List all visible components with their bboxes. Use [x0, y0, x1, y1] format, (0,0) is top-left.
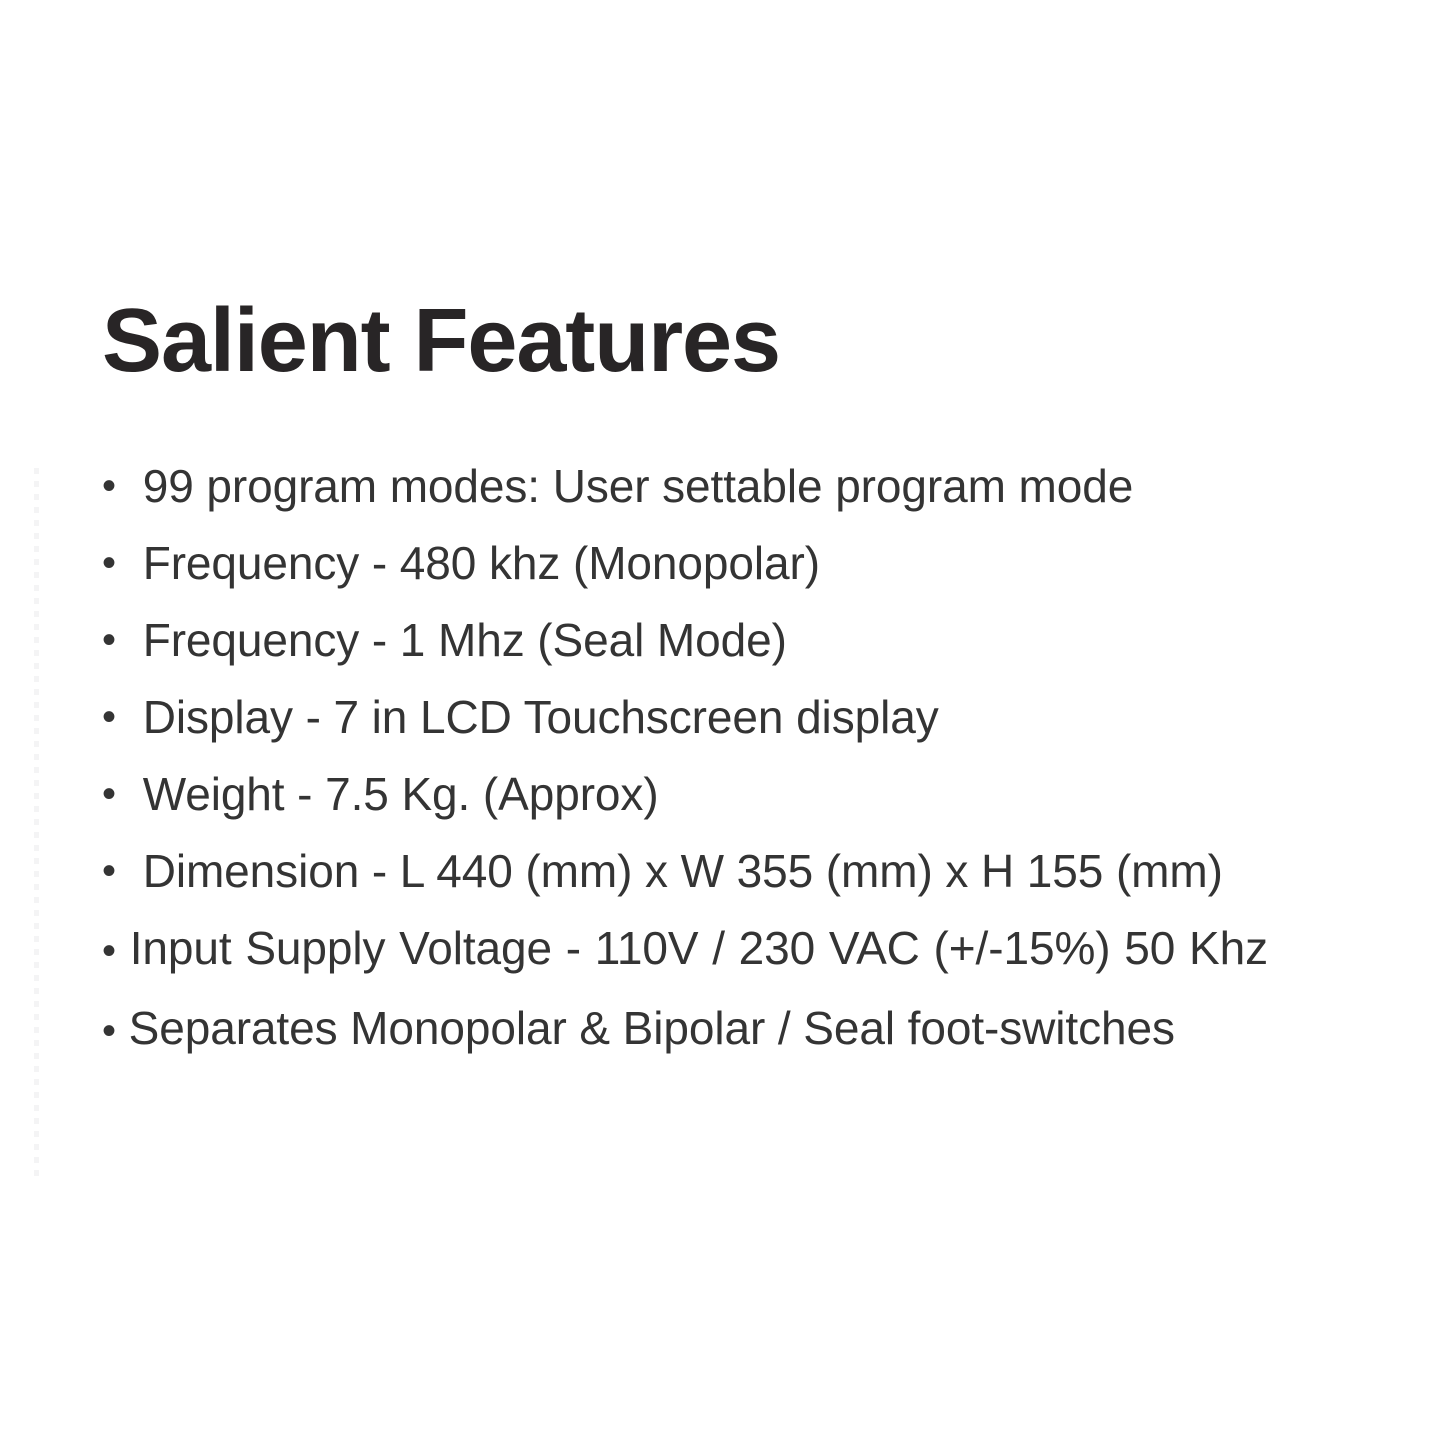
bullet-dot-icon: •: [102, 602, 130, 679]
left-edge-dotted-rule: [34, 468, 39, 1182]
list-item-label: Weight - 7.5 Kg. (Approx): [143, 768, 659, 820]
list-item-label: Display - 7 in LCD Touchscreen display: [143, 691, 939, 743]
list-item-wrapped: • Input Supply Voltage - 110V / 230 VAC …: [102, 910, 1268, 1070]
list-item-label-input-supply-voltage: Input Supply Voltage - 110V / 230 VAC (+…: [130, 922, 1268, 974]
list-item-label: 99 program modes: User settable program …: [143, 460, 1134, 512]
bullet-dot-icon: •: [102, 929, 116, 973]
bullet-dot-icon: •: [102, 448, 130, 525]
list-item: • Dimension - L 440 (mm) x W 355 (mm) x …: [102, 833, 1268, 910]
list-item: • 99 program modes: User settable progra…: [102, 448, 1268, 525]
bullet-dot-icon: •: [102, 679, 130, 756]
salient-features-page: Salient Features • 99 program modes: Use…: [0, 0, 1445, 1445]
page-title: Salient Features: [102, 296, 1268, 386]
feature-list: • 99 program modes: User settable progra…: [102, 448, 1268, 1070]
list-item: • Frequency - 1 Mhz (Seal Mode): [102, 602, 1268, 679]
bullet-dot-icon: •: [102, 756, 130, 833]
list-item: • Frequency - 480 khz (Monopolar): [102, 525, 1268, 602]
list-item-label: Frequency - 480 khz (Monopolar): [143, 537, 820, 589]
bullet-dot-icon: •: [102, 1009, 116, 1053]
content-block: Salient Features • 99 program modes: Use…: [102, 296, 1268, 1070]
bullet-dot-icon: •: [102, 525, 130, 602]
list-item-label: Frequency - 1 Mhz (Seal Mode): [143, 614, 787, 666]
bullet-dot-icon: •: [102, 833, 130, 910]
list-item-label-footswitches: Separates Monopolar & Bipolar / Seal foo…: [129, 1002, 1175, 1054]
list-item: • Display - 7 in LCD Touchscreen display: [102, 679, 1268, 756]
list-item-label: Dimension - L 440 (mm) x W 355 (mm) x H …: [143, 845, 1223, 897]
list-item: • Weight - 7.5 Kg. (Approx): [102, 756, 1268, 833]
